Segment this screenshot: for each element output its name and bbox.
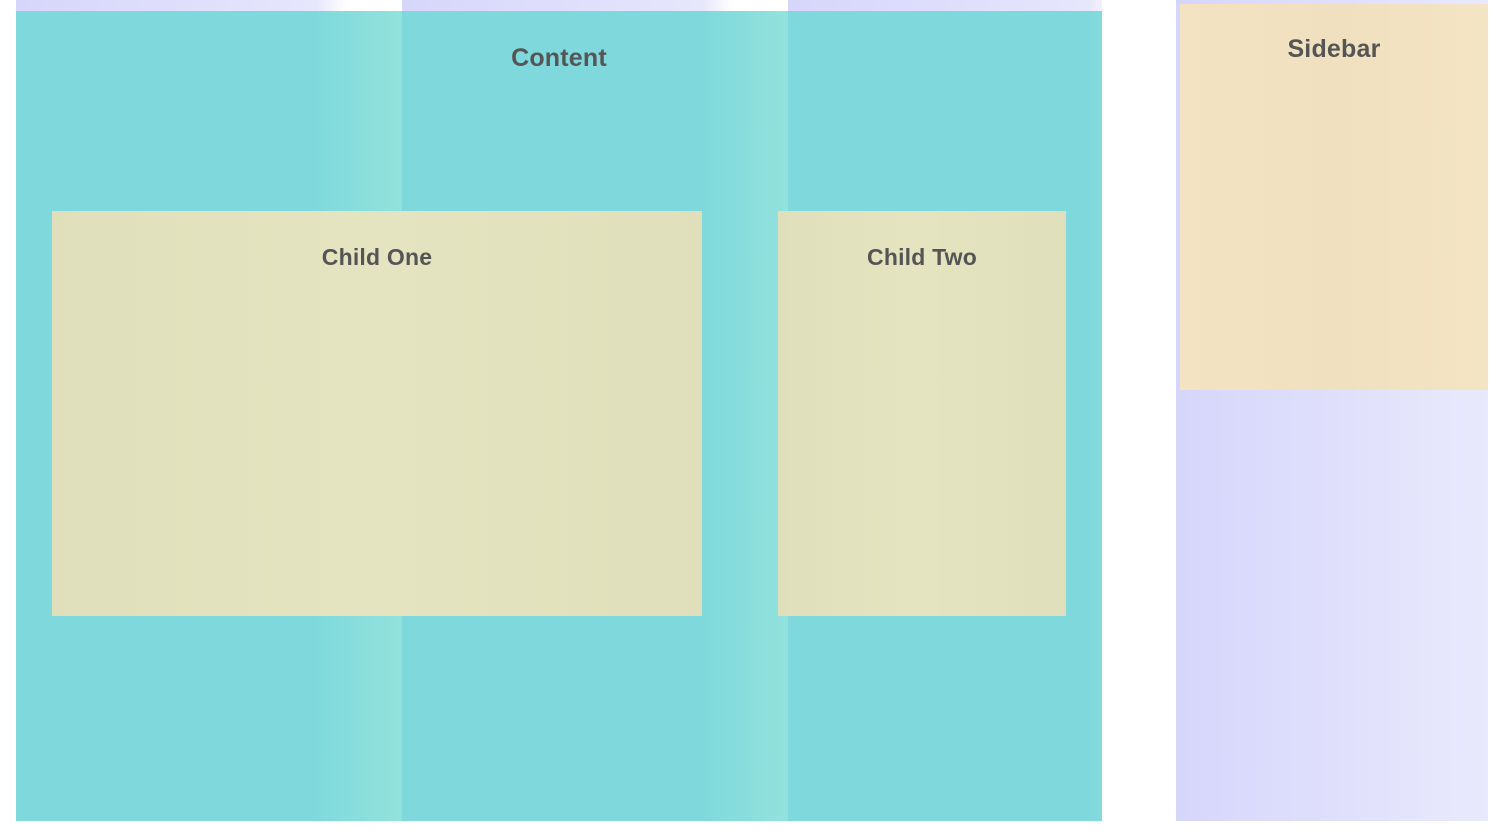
child-panel-two-title: Child Two (778, 211, 1066, 269)
child-panel-one: Child One (52, 211, 702, 616)
child-panel-two: Child Two (778, 211, 1066, 616)
app-root: Content Child One Child Two Sidebar (0, 0, 1501, 837)
sidebar-panel-title: Sidebar (1180, 4, 1488, 62)
sidebar-panel: Sidebar (1180, 4, 1488, 390)
content-panel-title: Content (16, 13, 1102, 71)
sidebar-column: Sidebar (1176, 0, 1488, 821)
content-panel: Content Child One Child Two (16, 0, 1102, 821)
child-panel-one-title: Child One (52, 211, 702, 269)
layout-row: Content Child One Child Two Sidebar (16, 0, 1488, 821)
content-children-row: Child One Child Two (52, 211, 1066, 616)
